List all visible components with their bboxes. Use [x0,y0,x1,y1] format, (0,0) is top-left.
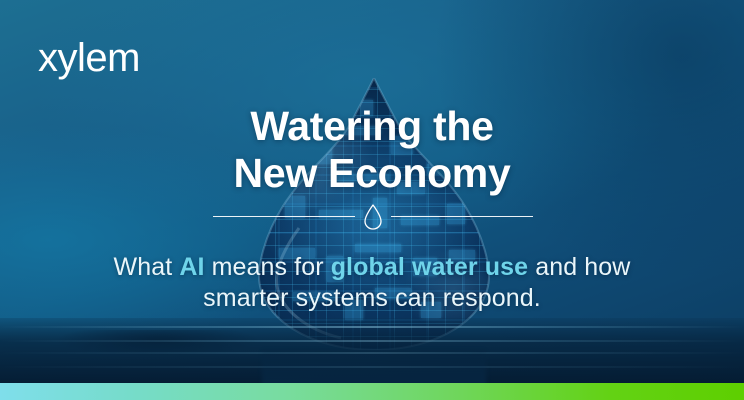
subtitle-text-3: and how [528,253,630,281]
page-subtitle: What AI means for global water use and h… [0,252,744,314]
xylem-logo[interactable]: xylem [38,38,140,78]
subtitle-line-2: smarter systems can respond. [0,283,744,314]
page-title: Watering the New Economy [0,103,744,197]
subtitle-highlight-ai: AI [179,253,204,281]
water-drop-icon [362,203,384,231]
hero-banner: xylem Watering the New Economy What AI m… [0,0,744,400]
headline-line-1: Watering the [250,103,493,149]
subtitle-text-2: means for [205,253,331,281]
divider [213,216,533,217]
headline-line-2: New Economy [0,150,744,197]
subtitle-text-1: What [114,253,180,281]
bottom-accent-bar [0,383,744,400]
subtitle-highlight-global-water-use: global water use [331,253,529,281]
divider-rule-right [391,216,533,218]
divider-rule-left [213,216,355,218]
